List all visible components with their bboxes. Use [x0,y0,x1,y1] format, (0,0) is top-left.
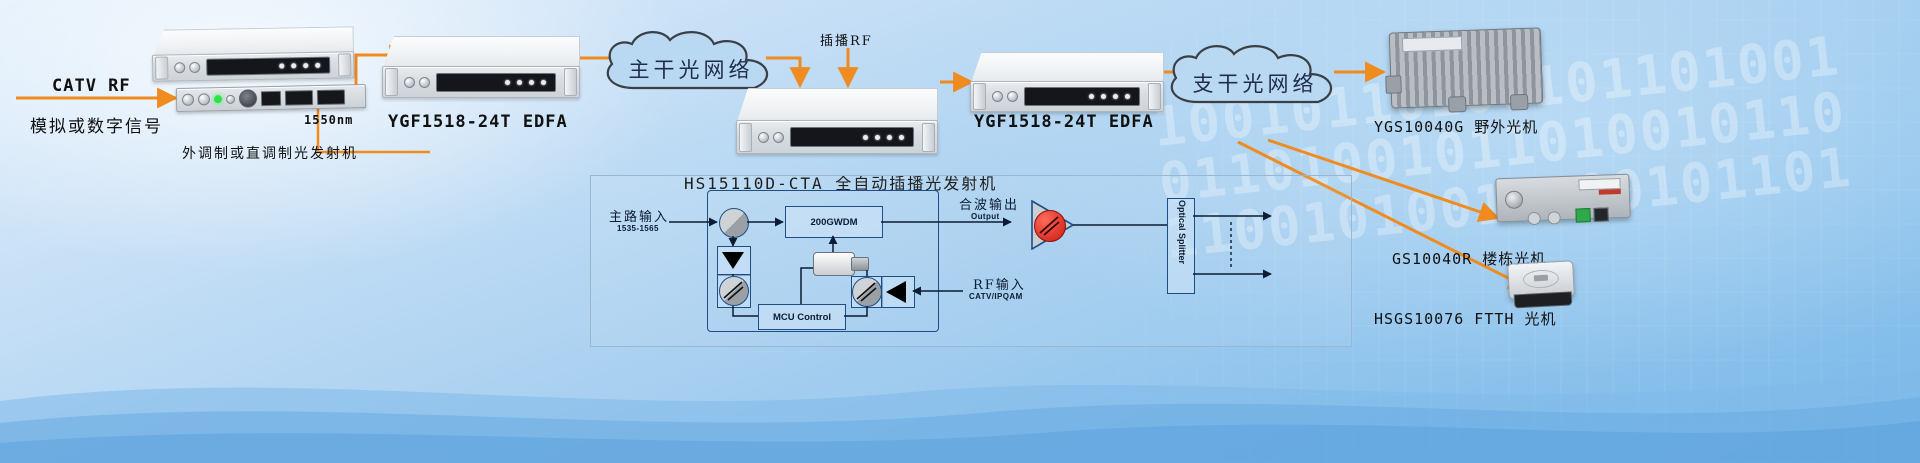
module-slot [261,90,281,105]
status-led [1101,94,1106,99]
sc-connector-green [1575,208,1590,223]
status-led [279,63,284,68]
rack-front-panel [152,51,354,81]
optical-port [182,94,194,106]
analog-digital-signal-label: 模拟或数字信号 [30,112,163,137]
status-led [517,80,522,85]
rack-ear-left [739,123,752,152]
transmitter-caption: 外调制或直调制光发射机 [182,143,358,163]
status-led [875,135,880,140]
power-socket [1593,207,1608,222]
status-led [541,80,546,85]
rack-ear-left [155,56,168,80]
module-slot [317,89,345,105]
outdoor-node-label: YGS10040G 野外光机 [1374,116,1538,137]
rack-ear-left [385,68,398,96]
status-led [303,63,308,68]
device-hs15110d-cta-transmitter[interactable] [736,88,936,154]
indicator-port [226,94,235,103]
status-led [1113,94,1118,99]
power-led [214,95,222,103]
device-modulated-optical-transmitter[interactable] [176,84,366,112]
ftth-node-label: HSGS10076 FTTH 光机 [1374,308,1556,329]
panel-knob [404,77,415,88]
panel-knob [758,132,769,143]
edfa-1-label: YGF1518-24T EDFA [388,112,568,132]
insert-rf-label: 插播RF [820,30,873,49]
catv-rf-label: CATV RF [52,76,131,96]
status-led [863,135,868,140]
rack-ear-right [338,53,351,77]
status-led [1125,94,1130,99]
panel-knob [1007,91,1018,102]
rack-ear-right [922,123,935,152]
optical-port [1547,211,1560,224]
panel-display [1024,87,1140,106]
panel-display [436,73,556,92]
status-led [1089,94,1094,99]
edfa-2-label: YGF1518-24T EDFA [974,112,1154,132]
optical-port [198,93,210,105]
diagram-canvas: 10010110100101101001 0110100101101001011… [0,0,1920,463]
status-led [887,135,892,140]
wavelength-label: 1550nm [304,113,353,127]
status-led [529,80,534,85]
status-led [899,135,904,140]
ftth-badge [1534,275,1548,282]
indicator-strip [1599,189,1621,195]
device-optical-transmitter-rack[interactable] [152,26,353,81]
device-edfa-1[interactable] [382,36,578,98]
status-led [291,63,296,68]
ftth-base [1514,291,1573,308]
panel-knob [174,62,185,73]
cloud-trunk-label: 主干光网络 [596,54,786,84]
optical-port [1527,212,1540,225]
nameplate [1402,36,1462,52]
rack-front-panel [736,120,938,154]
internal-block-diagram: 主路输入 1535-1565 200GWDM MCU Control [590,175,1352,347]
rack-ear-left [973,83,986,110]
panel-knob [773,132,784,143]
fan-icon [239,89,257,107]
port-connector [1448,96,1467,113]
device-building-optical-node[interactable] [1495,174,1630,223]
device-outdoor-optical-node[interactable] [1389,27,1544,108]
rack-front-panel [382,66,580,98]
device-ftth-optical-node[interactable] [1507,260,1575,299]
panel-knob [992,91,1003,102]
panel-display [790,127,914,147]
port-connector [1385,75,1402,94]
rack-front-panel [970,81,1164,112]
panel-display [206,57,330,76]
panel-knob [419,77,430,88]
bd-wiring [591,176,1351,346]
panel-knob [189,62,200,73]
cloud-branch-label: 支干光网络 [1160,68,1350,98]
cloud-branch-optical-network: 支干光网络 [1160,40,1350,114]
status-led [315,63,320,68]
device-edfa-2[interactable] [970,52,1162,112]
fan-icon [1505,190,1524,209]
status-led [505,80,510,85]
module-slot [285,90,313,106]
rack-top-surface [736,88,938,125]
rack-ear-right [564,68,577,96]
port-connector [1510,94,1529,111]
